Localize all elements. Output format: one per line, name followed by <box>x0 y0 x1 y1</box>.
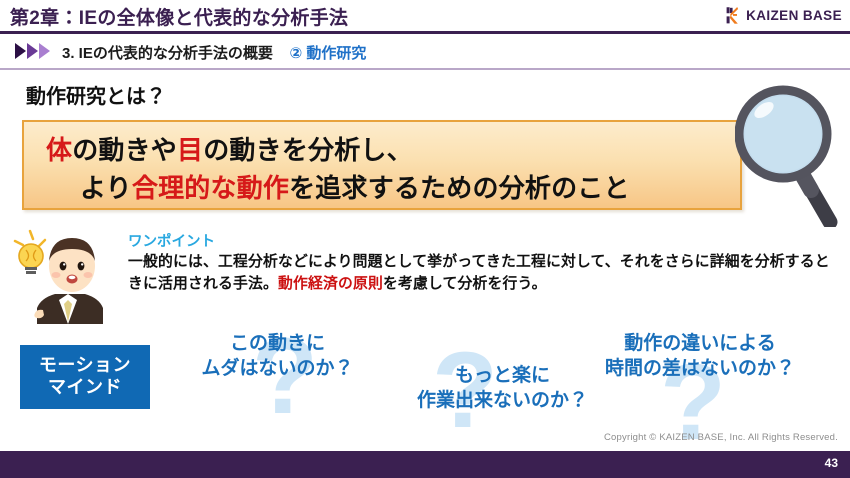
chapter-header: 第2章：IEの全体像と代表的な分析手法 KAIZEN BASE <box>0 0 850 32</box>
copyright-text: Copyright © KAIZEN BASE, Inc. All Rights… <box>604 432 838 443</box>
slide-root: 第2章：IEの全体像と代表的な分析手法 KAIZEN BASE <box>0 0 850 478</box>
page-number: 43 <box>825 456 838 470</box>
definition-box: 体の動きや目の動きを分析し、 より合理的な動作を追求するための分析のこと <box>22 120 742 210</box>
section-subtitle: 3. IEの代表的な分析手法の概要 ② 動作研究 <box>62 42 366 63</box>
note-emphasis-principle: 動作経済の原則 <box>278 276 383 292</box>
question-1-line-1: この動きに <box>230 333 325 354</box>
definition-line-2: より合理的な動作を追求するための分析のこと <box>80 168 630 205</box>
chapter-title: 第2章：IEの全体像と代表的な分析手法 <box>10 3 348 30</box>
motion-mind-line-1: モーション <box>39 355 131 377</box>
motion-mind-line-2: マインド <box>48 377 122 399</box>
note-text-2: を考慮して分析を行う。 <box>383 276 547 292</box>
section-subheader: 3. IEの代表的な分析手法の概要 ② 動作研究 <box>0 38 850 66</box>
definition-text-1: の動きや <box>72 135 177 165</box>
lightbulb-icon <box>15 231 45 274</box>
brand-logo-text: KAIZEN BASE <box>746 8 842 23</box>
definition-text-3: より <box>80 173 132 203</box>
one-point-label: ワンポイント <box>128 230 215 251</box>
topic-marker: ② <box>290 45 303 62</box>
section-number: 3. IEの代表的な分析手法の概要 <box>62 45 273 62</box>
brand-logo: KAIZEN BASE <box>721 5 842 26</box>
definition-text-4: を追求するための分析のこと <box>289 173 630 203</box>
header-divider <box>0 31 850 34</box>
question-3-line-2: 時間の差はないのか？ <box>605 358 795 379</box>
definition-emphasis-rational: 合理的な動作 <box>132 173 289 203</box>
triple-chevron-right-icon <box>14 42 58 60</box>
question-2-line-2: 作業出来ないのか？ <box>417 390 588 411</box>
businessman-with-lightbulb-icon <box>12 228 124 324</box>
definition-text-2: の動きを分析し、 <box>203 135 413 165</box>
definition-emphasis-eye: 目 <box>177 135 203 165</box>
question-text-1: この動きに ムダはないのか？ <box>175 332 380 381</box>
footer-bar <box>0 451 850 478</box>
magnifying-glass-icon <box>735 72 847 227</box>
definition-emphasis-body: 体 <box>46 135 72 165</box>
page-title: 動作研究とは？ <box>26 80 166 109</box>
one-point-body: 一般的には、工程分析などにより問題として挙がってきた工程に対して、それをさらに詳… <box>128 252 838 296</box>
topic-label: 動作研究 <box>306 45 366 62</box>
question-2-line-1: もっと楽に <box>455 365 550 386</box>
question-3-line-1: 動作の違いによる <box>624 333 775 354</box>
motion-mind-badge: モーション マインド <box>20 345 150 409</box>
subheader-divider <box>0 68 850 70</box>
question-text-3: 動作の違いによる 時間の差はないのか？ <box>570 332 830 381</box>
kaizen-k-logo-icon <box>721 5 742 26</box>
question-1-line-2: ムダはないのか？ <box>201 358 353 379</box>
definition-line-1: 体の動きや目の動きを分析し、 <box>46 130 413 167</box>
